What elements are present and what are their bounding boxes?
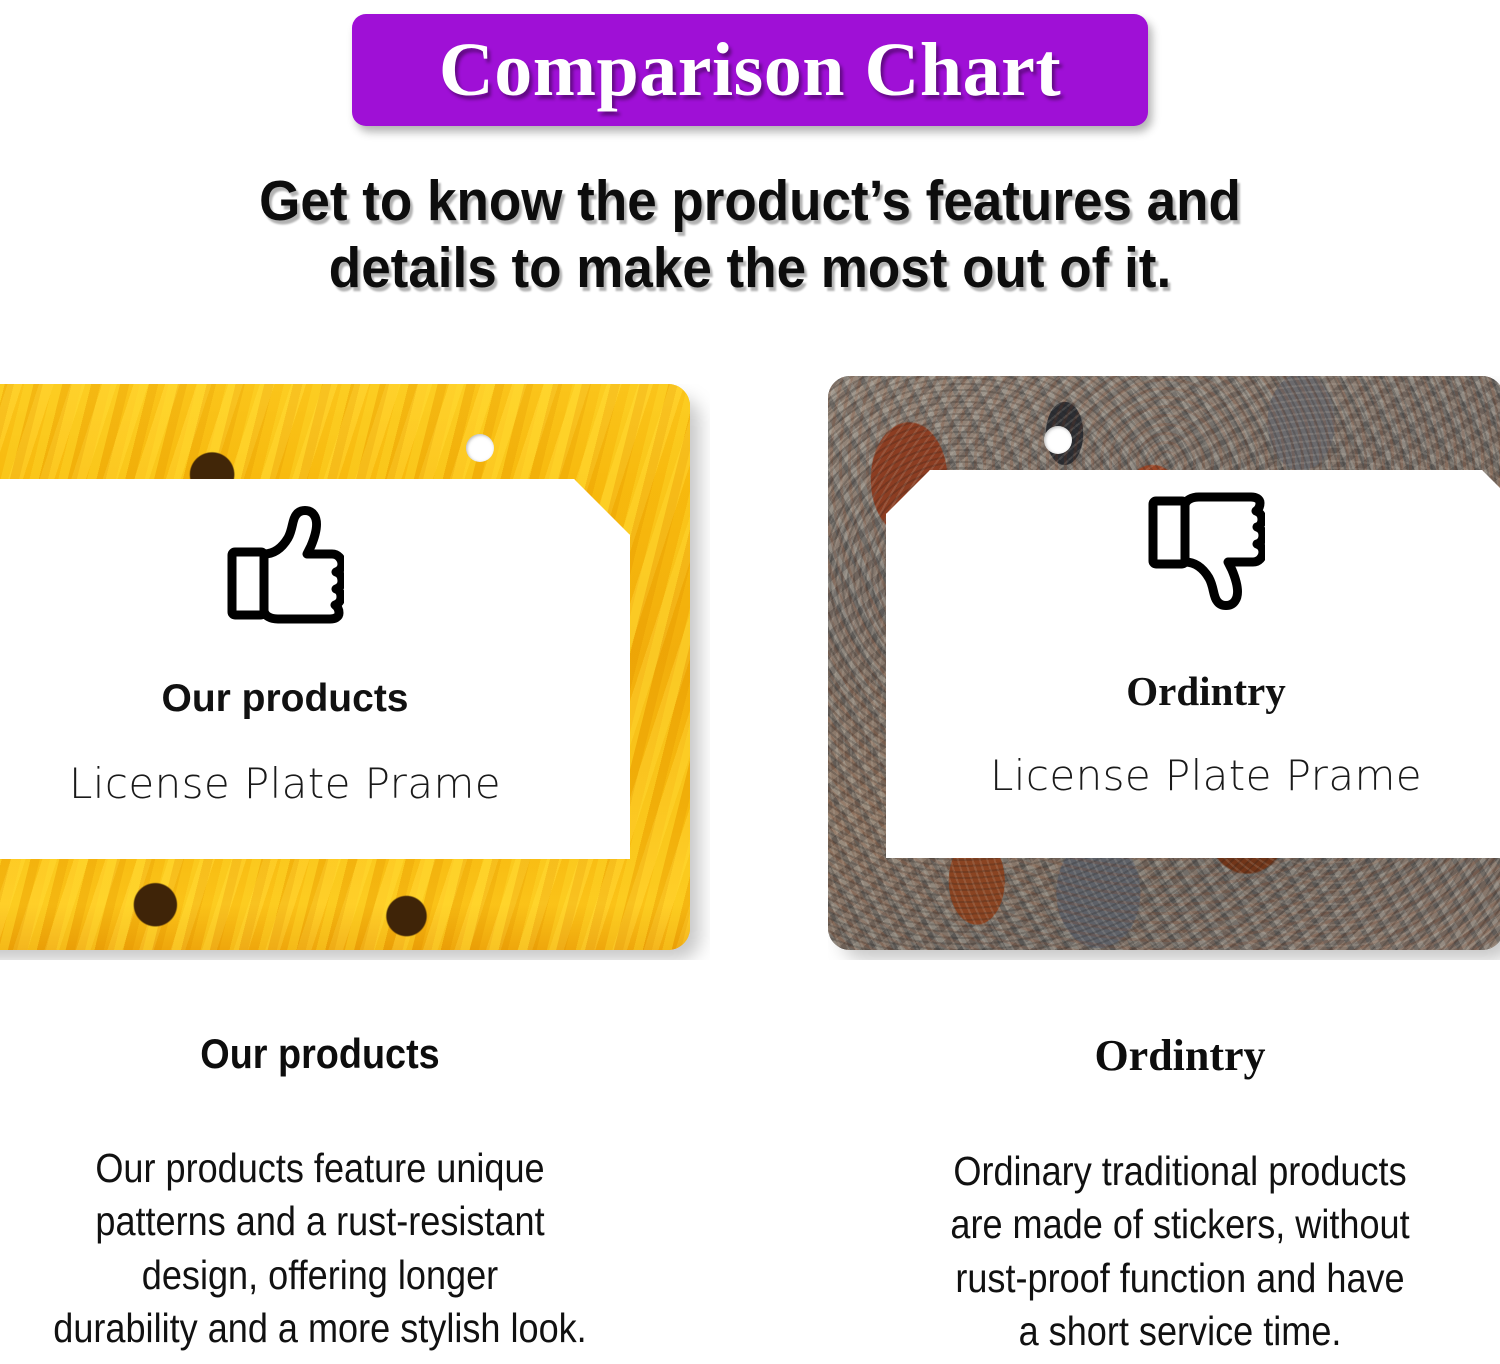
description-column-left: Our products Our products feature unique… [0,1030,640,1355]
column-body-left: Our products feature unique patterns and… [38,1142,601,1355]
product-card-title-left: Our products [161,677,408,721]
mounting-hole-right [1044,426,1072,454]
body-line: are made of stickers, without [898,1198,1461,1251]
body-line: patterns and a rust-resistant [38,1195,601,1248]
column-body-right: Ordinary traditional products are made o… [898,1145,1461,1358]
body-line: a short service time. [898,1305,1461,1358]
thumbs-down-icon [1147,492,1265,619]
product-card-subtitle-left: License Plate Prame [69,759,501,808]
body-line: rust-proof function and have [898,1252,1461,1305]
product-card-right: Ordintry License Plate Prame [886,492,1500,800]
description-column-right: Ordintry Ordinary traditional products a… [860,1030,1500,1358]
body-line: design, offering longer [38,1249,601,1302]
comparison-chart-page: Comparison Chart Get to know the product… [0,0,1500,1364]
product-card-left: Our products License Plate Prame [0,502,630,808]
subtitle: Get to know the product’s features and d… [164,168,1336,303]
page-title: Comparison Chart [439,32,1061,108]
body-line: Ordinary traditional products [898,1145,1461,1198]
body-line: Our products feature unique [38,1142,601,1195]
subtitle-line-2: details to make the most out of it. [164,235,1336,302]
body-line: durability and a more stylish look. [38,1302,601,1355]
product-frame-right: Ordintry License Plate Prame [828,376,1500,960]
product-card-subtitle-right: License Plate Prame [990,751,1422,800]
column-heading-left: Our products [32,1030,608,1078]
title-banner: Comparison Chart [352,14,1148,126]
product-card-title-right: Ordintry [1126,667,1285,715]
mounting-hole-left [466,434,494,462]
product-frame-left: Our products License Plate Prame [0,384,710,960]
thumbs-up-icon [226,502,344,629]
column-heading-right: Ordintry [860,1030,1500,1081]
subtitle-line-1: Get to know the product’s features and [164,168,1336,235]
